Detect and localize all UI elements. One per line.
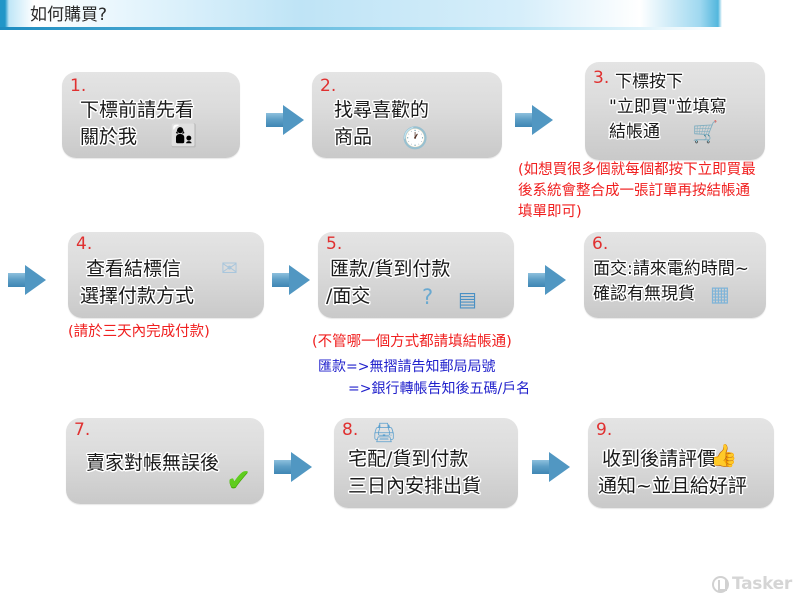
arrow-head — [545, 265, 566, 295]
step-text-4-line-2: 選擇付款方式 — [80, 283, 194, 310]
step5-note-blue-line-2: =>銀行轉帳告知後五碼/戶名 — [348, 379, 530, 400]
step-text-1-line-2: 關於我 — [80, 124, 137, 151]
step-box-4[interactable]: 4. 查看結標信 選擇付款方式 ✉ — [68, 232, 264, 318]
step-number-8: 8. — [342, 422, 358, 439]
step-text-3-line-2: "立即買"並填寫 — [609, 95, 727, 119]
step-box-8[interactable]: 8. 🖨 宅配/貨到付款 三日內安排出貨 — [334, 418, 518, 508]
step-box-3[interactable]: 3. 下標按下 "立即買"並填寫 結帳通 🛒 — [585, 62, 765, 160]
credit-card-icon: ▤ — [458, 289, 477, 309]
step-text-6-line-1: 面交:請來電約時間~ — [593, 257, 749, 281]
step-box-6[interactable]: 6. 面交:請來電約時間~ 確認有無現貨 ▦ — [584, 232, 766, 318]
step-number-6: 6. — [592, 236, 608, 253]
step-box-9[interactable]: 9. 收到後請評價 通知~並且給好評 👍 — [588, 418, 774, 508]
step-box-2[interactable]: 2. 找尋喜歡的 商品 🕐 — [312, 72, 502, 158]
step-box-5[interactable]: 5. 匯款/貨到付款 /面交 ? ▤ — [318, 232, 514, 318]
step5-note-blue-line-1: 匯款=>無摺請告知郵局局號 — [318, 357, 495, 378]
watermark-text: Tasker — [732, 574, 792, 594]
step-number-9: 9. — [596, 422, 612, 439]
step3-note-line-2: 後系統會整合成一張訂單再按結帳通 — [518, 181, 750, 202]
clock-icon: 🕐 — [402, 128, 428, 149]
step3-note-line-1: (如想買很多個就每個都按下立即買最 — [518, 160, 756, 181]
arrow-2-to-3 — [515, 105, 553, 135]
step-text-2-line-1: 找尋喜歡的 — [334, 97, 429, 124]
step-text-4-line-1: 查看結標信 — [86, 256, 181, 283]
step-box-7[interactable]: 7. 賣家對帳無誤後 ✔ — [66, 418, 264, 504]
step-box-1[interactable]: 1. 下標前請先看 關於我 👩‍👦 — [62, 72, 240, 158]
arrow-head — [291, 452, 312, 482]
tasker-logo-icon — [712, 576, 729, 593]
thumbs-up-icon: 👍 — [710, 446, 737, 468]
people-icon: 👩‍👦 — [170, 126, 197, 148]
step-number-5: 5. — [326, 236, 342, 253]
step-text-8-line-1: 宅配/貨到付款 — [348, 446, 468, 473]
green-check-icon: ✔ — [226, 466, 251, 496]
step-number-4: 4. — [76, 236, 92, 253]
arrow-4-to-5 — [272, 265, 310, 295]
step-text-3-line-3: 結帳通 — [609, 120, 660, 144]
step-text-5-line-2: /面交 — [326, 283, 370, 310]
step-text-8-line-2: 三日內安排出貨 — [348, 473, 481, 500]
step-text-7-line-1: 賣家對帳無誤後 — [86, 450, 219, 477]
step-text-5-line-1: 匯款/貨到付款 — [330, 256, 450, 283]
step4-note: (請於三天內完成付款) — [68, 322, 210, 343]
arrow-row1-to-row2 — [8, 265, 46, 295]
step-number-1: 1. — [70, 78, 86, 95]
mail-envelope-icon: ✉ — [221, 258, 238, 278]
step3-note-line-3: 填單即可) — [518, 202, 582, 223]
arrow-7-to-8 — [274, 452, 312, 482]
step-number-7: 7. — [74, 422, 90, 439]
step-text-9-line-1: 收到後請評價 — [602, 446, 716, 473]
header-banner: 如何購買? — [0, 0, 722, 30]
arrow-1-to-2 — [266, 105, 304, 135]
step-text-2-line-2: 商品 — [334, 124, 372, 151]
arrow-8-to-9 — [532, 452, 570, 482]
step-number-2: 2. — [320, 78, 336, 95]
arrow-head — [289, 265, 310, 295]
printer-icon: 🖨 — [372, 424, 396, 443]
question-mark-icon: ? — [422, 287, 433, 308]
purchase-guide-page: 如何購買? 1. 下標前請先看 關於我 👩‍👦 2. 找尋喜歡的 商品 🕐 3.… — [0, 0, 800, 600]
arrow-head — [283, 105, 304, 135]
step-number-3: 3. — [593, 70, 609, 87]
calculator-icon: ▦ — [710, 284, 730, 305]
step-text-1-line-1: 下標前請先看 — [80, 97, 194, 124]
shopping-cart-icon: 🛒 — [692, 122, 718, 143]
page-title: 如何購買? — [30, 2, 107, 28]
arrow-head — [549, 452, 570, 482]
arrow-head — [532, 105, 553, 135]
step-text-3-line-1: 下標按下 — [615, 70, 683, 94]
step-text-6-line-2: 確認有無現貨 — [593, 282, 695, 306]
step-text-9-line-2: 通知~並且給好評 — [598, 473, 747, 500]
step5-note-red: (不管哪一個方式都請填結帳通) — [312, 332, 512, 353]
watermark: Tasker — [712, 574, 792, 594]
arrow-5-to-6 — [528, 265, 566, 295]
arrow-head — [25, 265, 46, 295]
